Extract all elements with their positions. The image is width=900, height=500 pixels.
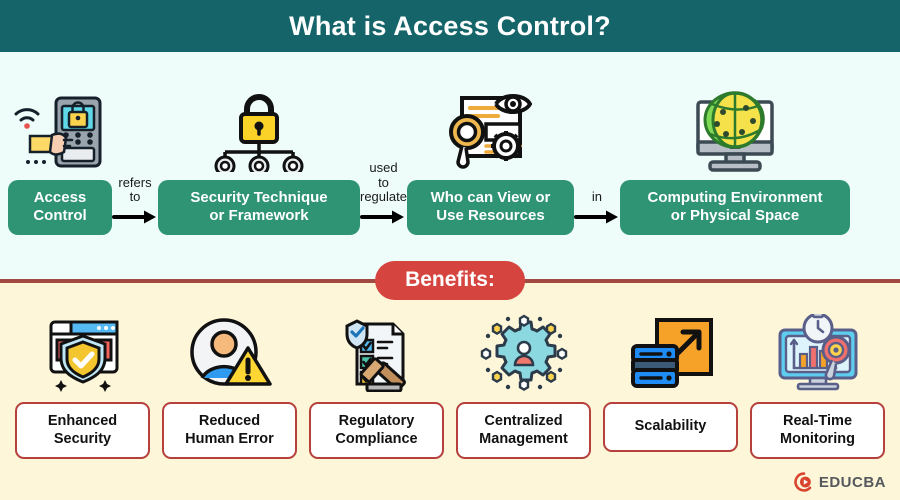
infographic-canvas: What is Access Control?: [0, 0, 900, 500]
benefit-label-5: Scalability: [603, 402, 738, 452]
arrow-right-icon: [112, 209, 158, 225]
header-bar: What is Access Control?: [0, 0, 900, 52]
educba-play-icon: [794, 472, 814, 492]
monitor-globe-icon: [682, 86, 788, 172]
flow-node-computing-environment[interactable]: Computing Environment or Physical Space: [620, 52, 850, 281]
page-title: What is Access Control?: [289, 11, 611, 42]
benefit-label-6: Real-Time Monitoring: [750, 402, 885, 459]
flow-label-2: Security Technique or Framework: [158, 180, 360, 236]
user-warning-icon: [184, 310, 276, 396]
benefit-label-4: Centralized Management: [456, 402, 591, 459]
benefit-reduced-human-error[interactable]: Reduced Human Error: [162, 310, 297, 459]
checklist-gavel-icon: [331, 310, 423, 396]
arrow-right-icon: [574, 209, 620, 225]
server-growth-icon: [625, 310, 717, 396]
educba-logo[interactable]: EDUCBA: [794, 472, 886, 492]
benefit-label-2: Reduced Human Error: [162, 402, 297, 459]
connector-in: in: [574, 52, 620, 281]
benefit-centralized-management[interactable]: Centralized Management: [456, 310, 591, 459]
benefit-regulatory-compliance[interactable]: Regulatory Compliance: [309, 310, 444, 459]
flow-node-access-control[interactable]: Access Control: [8, 52, 112, 281]
padlock-gears-icon: [207, 86, 311, 172]
connector-label-1: refers to: [118, 176, 151, 205]
monitor-chart-stopwatch-icon: [772, 310, 864, 396]
benefit-label-3: Regulatory Compliance: [309, 402, 444, 459]
keypad-lock-icon: [12, 86, 108, 172]
arrow-right-icon: [360, 209, 406, 225]
document-eye-search-icon: [440, 86, 540, 172]
shield-check-browser-icon: [37, 310, 129, 396]
flow-node-who-can-view[interactable]: Who can View or Use Resources: [407, 52, 574, 281]
benefits-list: Enhanced Security Reduced Human Error: [0, 310, 900, 470]
educba-logo-text: EDUCBA: [819, 474, 886, 491]
flow-label-1: Access Control: [8, 180, 112, 236]
connector-label-3: in: [592, 190, 602, 205]
benefit-enhanced-security[interactable]: Enhanced Security: [15, 310, 150, 459]
benefits-banner: Benefits:: [375, 261, 525, 300]
benefit-label-1: Enhanced Security: [15, 402, 150, 459]
flow-node-security-technique[interactable]: Security Technique or Framework: [158, 52, 360, 281]
benefit-real-time-monitoring[interactable]: Real-Time Monitoring: [750, 310, 885, 459]
access-control-flow: Access Control refers to: [0, 52, 900, 281]
connector-refers-to: refers to: [112, 52, 158, 281]
connector-label-2: used to regulate: [360, 161, 407, 205]
connector-used-to-regulate: used to regulate: [360, 52, 407, 281]
gear-user-network-icon: [478, 310, 570, 396]
flow-label-4: Computing Environment or Physical Space: [620, 180, 850, 236]
benefit-scalability[interactable]: Scalability: [603, 310, 738, 452]
flow-label-3: Who can View or Use Resources: [407, 180, 574, 236]
